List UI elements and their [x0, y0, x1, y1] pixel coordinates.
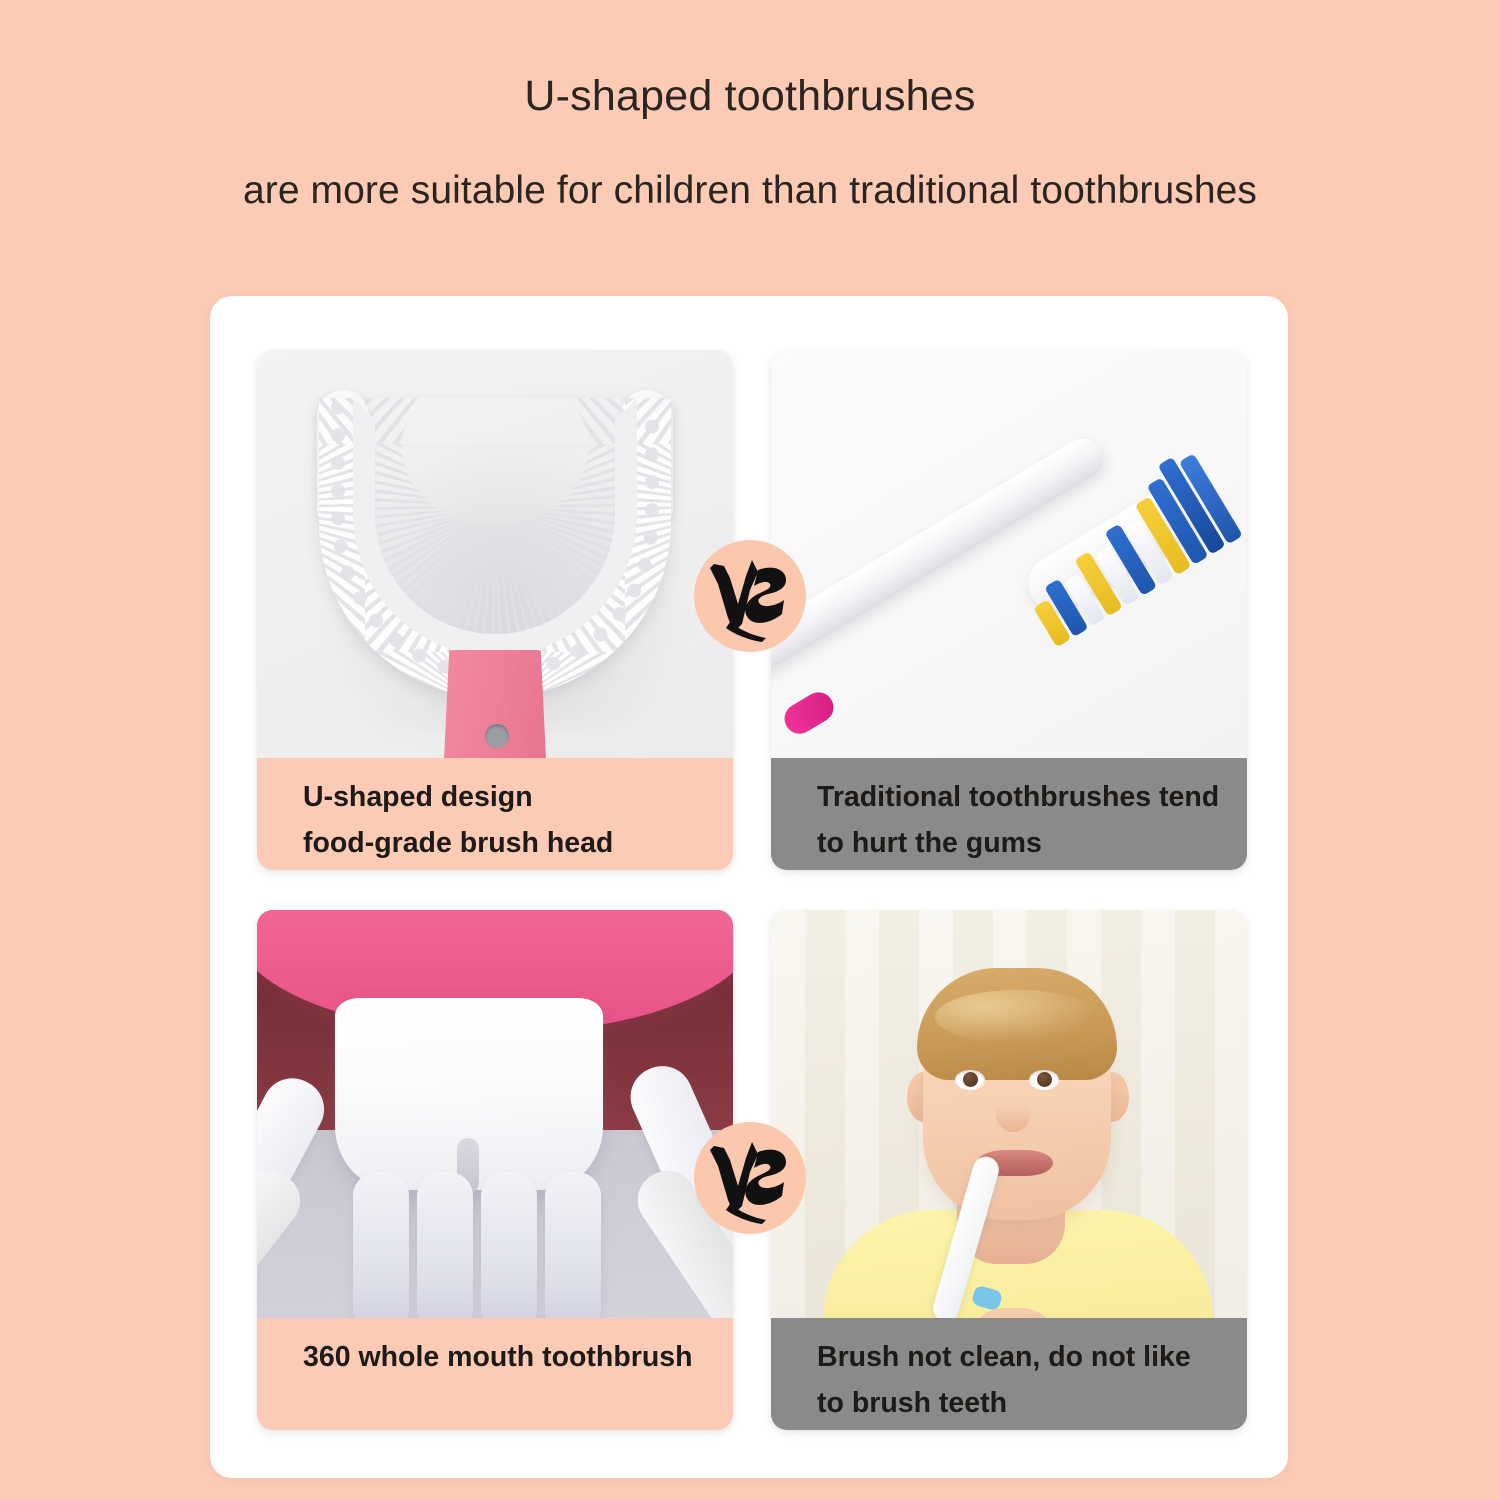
caption-line: Traditional toothbrushes tend: [817, 774, 1247, 820]
vs-badge-bottom: [694, 1122, 806, 1234]
toothbrush-bristles: [979, 410, 1247, 671]
caption-360-whole-mouth: 360 whole mouth toothbrush: [257, 1318, 733, 1430]
vs-icon: [700, 1128, 800, 1228]
page-subtitle: are more suitable for children than trad…: [0, 121, 1500, 213]
caption-u-shaped-design: U-shaped design food-grade brush head: [257, 758, 733, 870]
panel-u-shaped-design[interactable]: U-shaped design food-grade brush head: [257, 350, 733, 870]
u-brush-handle-hole: [485, 724, 509, 748]
caption-child-not-brushing: Brush not clean, do not like to brush te…: [771, 1318, 1247, 1430]
panel-traditional-toothbrush[interactable]: Traditional toothbrushes tend to hurt th…: [771, 350, 1247, 870]
header-block: U-shaped toothbrushes are more suitable …: [0, 0, 1500, 213]
child-eye-right: [1029, 1070, 1059, 1090]
caption-traditional-toothbrush: Traditional toothbrushes tend to hurt th…: [771, 758, 1247, 870]
vs-icon: [700, 546, 800, 646]
page-title: U-shaped toothbrushes: [0, 0, 1500, 121]
u-shaped-brush-illustration: [257, 350, 733, 758]
comparison-grid: U-shaped design food-grade brush head: [257, 350, 1247, 1430]
lower-teeth: [353, 1172, 603, 1318]
child-eyebrow-left: [951, 1056, 989, 1061]
caption-line: to hurt the gums: [817, 820, 1247, 866]
caption-line: food-grade brush head: [303, 820, 733, 866]
caption-line: 360 whole mouth toothbrush: [303, 1334, 733, 1380]
brush-bristle-left-2: [257, 1160, 311, 1318]
traditional-toothbrush-illustration: [771, 350, 1247, 758]
child-hair: [917, 968, 1117, 1080]
panel-child-not-brushing[interactable]: Brush not clean, do not like to brush te…: [771, 910, 1247, 1430]
vs-badge-top: [694, 540, 806, 652]
child-eyebrow-right: [1025, 1056, 1063, 1061]
comparison-card: U-shaped design food-grade brush head: [210, 296, 1288, 1478]
mouth-illustration: [257, 910, 733, 1318]
panel-360-whole-mouth[interactable]: 360 whole mouth toothbrush: [257, 910, 733, 1430]
toothbrush-handle-tip: [779, 687, 839, 739]
child-eye-left: [955, 1070, 985, 1090]
caption-line: Brush not clean, do not like: [817, 1334, 1247, 1380]
caption-line: U-shaped design: [303, 774, 733, 820]
caption-line: to brush teeth: [817, 1380, 1247, 1426]
child-illustration: [771, 910, 1247, 1318]
